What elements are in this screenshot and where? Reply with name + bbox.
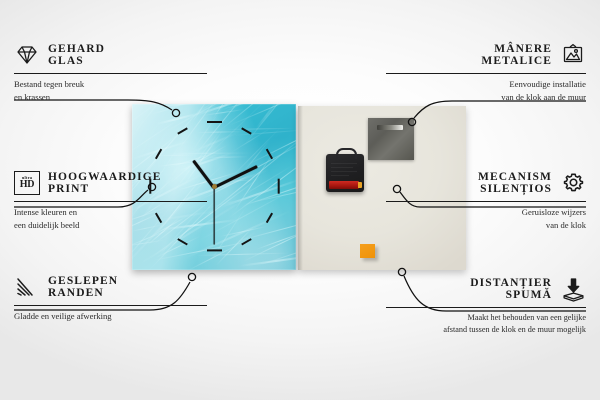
beveled-edges-icon	[14, 274, 40, 300]
feature-divider	[14, 305, 207, 306]
feature-header: DISTANȚIER SPUMĂ	[386, 276, 586, 302]
spacer-arrow-icon	[560, 276, 586, 302]
feature-header: ultra HD HOOGWAARDIGE PRINT	[14, 170, 214, 196]
feature-header: GESLEPEN RANDEN	[14, 274, 214, 300]
feature-divider	[14, 73, 207, 74]
feature-header: MÂNERE METALICE	[386, 42, 586, 68]
feature-distantier-spuma[interactable]: DISTANȚIER SPUMĂ Maakt het behouden van …	[386, 276, 586, 336]
feature-divider	[14, 201, 207, 202]
feature-description: Intense kleuren en een duidelijk beeld	[14, 206, 214, 230]
feature-title: MECANISM SILENȚIOS	[478, 171, 552, 195]
feature-header: MECANISM SILENȚIOS	[386, 170, 586, 196]
feature-description: Eenvoudige installatie van de klok aan d…	[386, 78, 586, 102]
ultra-hd-icon: ultra HD	[14, 170, 40, 196]
feature-title: MÂNERE METALICE	[481, 43, 552, 67]
feature-divider	[386, 201, 586, 202]
connector-manere-metalice	[414, 101, 586, 118]
feature-description: Bestand tegen breuk en krassen	[14, 78, 214, 102]
gear-icon	[560, 170, 586, 196]
feature-title: HOOGWAARDIGE PRINT	[48, 171, 162, 195]
feature-divider	[386, 307, 586, 308]
feature-manere-metalice[interactable]: MÂNERE METALICE Eenvoudige installatie v…	[386, 42, 586, 103]
feature-hoogwaardige-print[interactable]: ultra HD HOOGWAARDIGE PRINT Intense kleu…	[14, 170, 214, 231]
picture-frame-icon	[560, 42, 586, 68]
feature-title: GEHARD GLAS	[48, 43, 105, 67]
feature-description: Maakt het behouden van een gelijke afsta…	[386, 312, 586, 335]
feature-mecanism-silentios[interactable]: MECANISM SILENȚIOS Geruisloze wijzers va…	[386, 170, 586, 231]
feature-title: GESLEPEN RANDEN	[48, 275, 118, 299]
feature-gehard-glas[interactable]: GEHARD GLAS Bestand tegen breuk en krass…	[14, 42, 214, 103]
feature-description: Gladde en veilige afwerking	[14, 310, 214, 322]
feature-title: DISTANȚIER SPUMĂ	[470, 277, 552, 301]
infographic-stage: GEHARD GLAS Bestand tegen breuk en krass…	[0, 0, 600, 400]
ultra-hd-large-label: HD	[20, 180, 35, 190]
feature-header: GEHARD GLAS	[14, 42, 214, 68]
feature-geslepen-randen[interactable]: GESLEPEN RANDEN Gladde en veilige afwerk…	[14, 274, 214, 323]
feature-divider	[386, 73, 586, 74]
feature-description: Geruisloze wijzers van de klok	[386, 206, 586, 230]
diamond-icon	[14, 42, 40, 68]
